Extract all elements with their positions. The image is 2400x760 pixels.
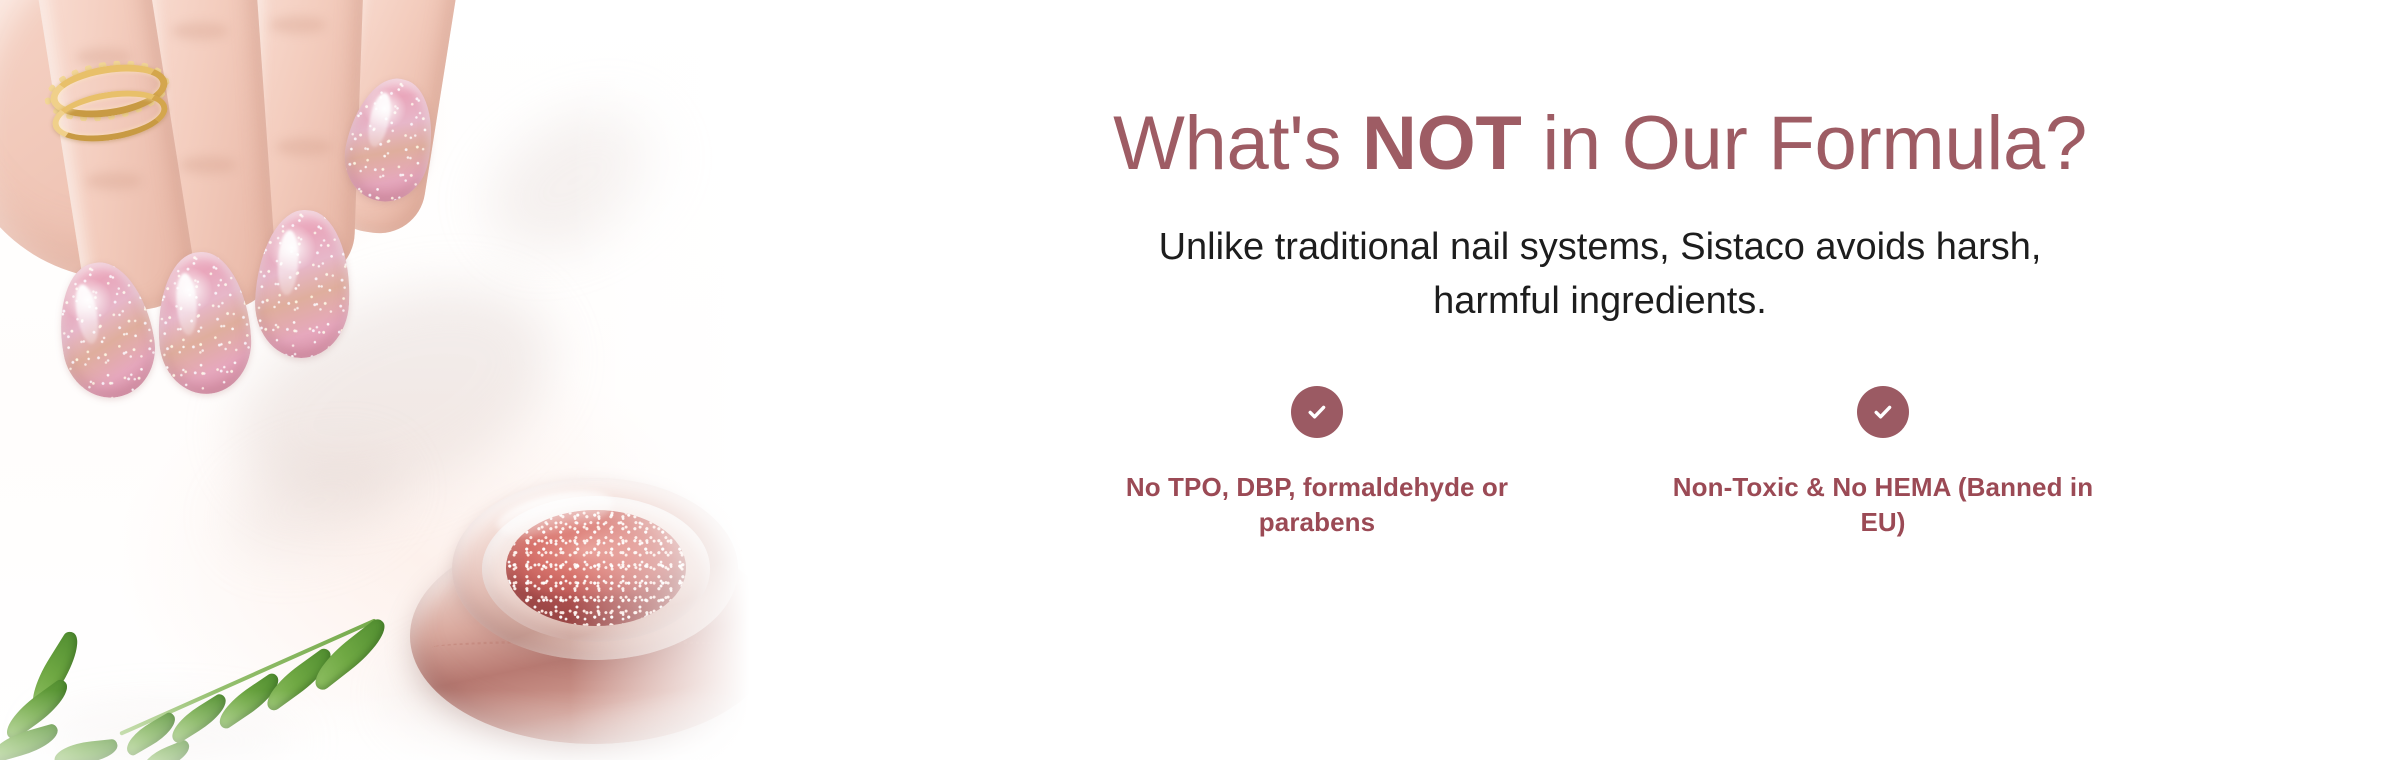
- knuckle-crease: [270, 16, 326, 34]
- feature-list: No TPO, DBP, formaldehyde or parabens No…: [1097, 386, 2103, 540]
- photo-backdrop: [0, 0, 800, 760]
- headline-emphasis: NOT: [1362, 101, 1522, 186]
- product-photo: [0, 0, 800, 760]
- hand-illustration: [0, 0, 600, 480]
- nail-highlight: [175, 272, 200, 336]
- feature-label: Non-Toxic & No HEMA (Banned in EU): [1663, 470, 2103, 540]
- nail-highlight: [72, 283, 102, 345]
- knuckle-crease: [172, 22, 228, 40]
- product-claims-banner: What's NOT in Our Formula? Unlike tradit…: [0, 0, 2400, 760]
- headline-suffix: in Our Formula?: [1522, 101, 2087, 186]
- copy-column: What's NOT in Our Formula? Unlike tradit…: [800, 0, 2400, 760]
- feature-label: No TPO, DBP, formaldehyde or parabens: [1097, 470, 1537, 540]
- feature-item: No TPO, DBP, formaldehyde or parabens: [1097, 386, 1537, 540]
- knuckle-crease: [86, 172, 142, 190]
- knuckle-crease: [276, 138, 332, 156]
- headline-prefix: What's: [1113, 101, 1362, 186]
- feature-item: Non-Toxic & No HEMA (Banned in EU): [1663, 386, 2103, 540]
- nail-highlight: [276, 229, 300, 295]
- glitter-jar: [400, 450, 790, 760]
- fern-leaf: [0, 612, 410, 760]
- fern-leaflet: [53, 739, 119, 760]
- knuckle-crease: [180, 156, 236, 174]
- page-title: What's NOT in Our Formula?: [1113, 104, 2087, 185]
- check-circle-icon: [1857, 386, 1909, 438]
- nail-highlight: [365, 91, 394, 148]
- nail-glitter: [252, 208, 354, 361]
- nail-glitter: [153, 249, 255, 397]
- check-circle-icon: [1291, 386, 1343, 438]
- subtitle: Unlike traditional nail systems, Sistaco…: [1090, 221, 2110, 329]
